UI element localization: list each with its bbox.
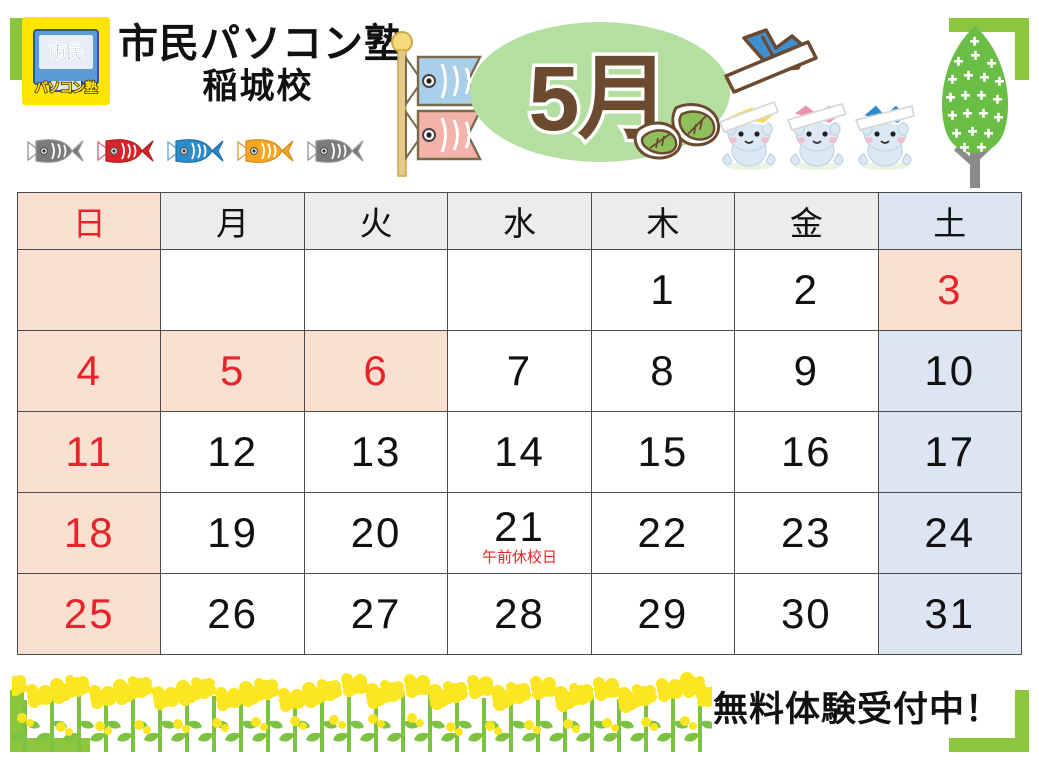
school-logo: 市民 パソコン塾 xyxy=(22,17,110,105)
day-number: 31 xyxy=(879,593,1021,635)
day-number: 7 xyxy=(448,350,590,392)
calendar-day-cell[interactable]: 20 xyxy=(304,493,447,574)
day-number: 27 xyxy=(305,593,447,635)
brand-line-1: 市民パソコン塾 xyxy=(118,22,398,67)
day-number: 21 xyxy=(448,506,590,548)
day-number: 10 xyxy=(879,350,1021,392)
calendar-day-cell[interactable]: 17 xyxy=(878,412,1021,493)
mascot-with-yellow-helmet-icon xyxy=(718,98,780,175)
calendar-day-cell[interactable]: 13 xyxy=(304,412,447,493)
koinobori-icon xyxy=(236,138,294,164)
day-number: 5 xyxy=(161,350,303,392)
calendar-day-cell[interactable]: 8 xyxy=(591,331,734,412)
day-number: 17 xyxy=(879,431,1021,473)
calendar-poster: 市民 パソコン塾 市民パソコン塾 稲城校 xyxy=(0,0,1039,770)
calendar-table-wrapper: 日月火水木金土 12345678910111213141516171819202… xyxy=(17,192,1022,655)
day-number: 1 xyxy=(592,269,734,311)
calendar-day-cell[interactable]: 22 xyxy=(591,493,734,574)
calendar-day-cell[interactable]: 1 xyxy=(591,250,734,331)
day-number: 2 xyxy=(735,269,877,311)
day-number: 13 xyxy=(305,431,447,473)
day-number: 30 xyxy=(735,593,877,635)
calendar-week-row: 11121314151617 xyxy=(18,412,1022,493)
calendar-day-cell[interactable]: 14 xyxy=(448,412,591,493)
weekday-header-火: 火 xyxy=(304,193,447,250)
day-number: 16 xyxy=(735,431,877,473)
koinobori-row xyxy=(26,138,364,164)
calendar-day-cell[interactable]: 30 xyxy=(735,574,878,655)
kashiwamochi-icon xyxy=(630,96,726,167)
day-number: 4 xyxy=(18,350,160,392)
calendar-day-cell[interactable]: 3 xyxy=(878,250,1021,331)
day-number: 23 xyxy=(735,512,877,554)
calendar-empty-cell xyxy=(304,250,447,331)
weekday-header-土: 土 xyxy=(878,193,1021,250)
day-number: 22 xyxy=(592,512,734,554)
day-number: 29 xyxy=(592,593,734,635)
brand-line-2: 稲城校 xyxy=(118,67,398,107)
calendar-day-cell[interactable]: 28 xyxy=(448,574,591,655)
calendar-day-cell[interactable]: 10 xyxy=(878,331,1021,412)
calendar-table: 日月火水木金土 12345678910111213141516171819202… xyxy=(17,192,1022,655)
calendar-day-cell[interactable]: 11 xyxy=(18,412,161,493)
calendar-day-cell[interactable]: 24 xyxy=(878,493,1021,574)
day-number: 19 xyxy=(161,512,303,554)
calendar-day-cell[interactable]: 6 xyxy=(304,331,447,412)
day-number: 8 xyxy=(592,350,734,392)
koinobori-icon xyxy=(96,138,154,164)
mascot-with-blue-helmet-icon xyxy=(854,98,916,175)
weekday-header-木: 木 xyxy=(591,193,734,250)
weekday-header-月: 月 xyxy=(161,193,304,250)
koinobori-icon xyxy=(306,138,364,164)
day-number: 25 xyxy=(18,593,160,635)
calendar-day-cell[interactable]: 19 xyxy=(161,493,304,574)
koinobori-icon xyxy=(26,138,84,164)
nanohana-flower-band xyxy=(12,660,712,752)
calendar-day-cell[interactable]: 15 xyxy=(591,412,734,493)
day-number: 6 xyxy=(305,350,447,392)
calendar-week-row: 25262728293031 xyxy=(18,574,1022,655)
mascot-group xyxy=(718,98,916,175)
calendar-empty-cell xyxy=(18,250,161,331)
day-number: 15 xyxy=(592,431,734,473)
calendar-day-cell[interactable]: 7 xyxy=(448,331,591,412)
calendar-week-row: 18192021午前休校日222324 xyxy=(18,493,1022,574)
logo-monitor-label: 市民 xyxy=(48,43,84,62)
koinobori-icon xyxy=(166,138,224,164)
calendar-day-cell[interactable]: 23 xyxy=(735,493,878,574)
calendar-day-cell[interactable]: 4 xyxy=(18,331,161,412)
day-number: 18 xyxy=(18,512,160,554)
calendar-day-cell[interactable]: 29 xyxy=(591,574,734,655)
day-number: 20 xyxy=(305,512,447,554)
calendar-week-row: 123 xyxy=(18,250,1022,331)
day-number: 11 xyxy=(18,431,160,473)
calendar-week-row: 45678910 xyxy=(18,331,1022,412)
calendar-empty-cell xyxy=(448,250,591,331)
calendar-day-cell[interactable]: 2 xyxy=(735,250,878,331)
calendar-day-cell[interactable]: 12 xyxy=(161,412,304,493)
weekday-header-水: 水 xyxy=(448,193,591,250)
day-number: 12 xyxy=(161,431,303,473)
calendar-day-cell[interactable]: 18 xyxy=(18,493,161,574)
calendar-day-cell[interactable]: 16 xyxy=(735,412,878,493)
day-number: 28 xyxy=(448,593,590,635)
day-number: 24 xyxy=(879,512,1021,554)
tree-icon xyxy=(930,20,1020,195)
logo-sub-label: パソコン塾 xyxy=(35,77,98,96)
day-note: 午前休校日 xyxy=(448,550,590,565)
day-number: 14 xyxy=(448,431,590,473)
calendar-day-cell[interactable]: 26 xyxy=(161,574,304,655)
mascot-with-pink-helmet-icon xyxy=(786,98,848,175)
day-number: 26 xyxy=(161,593,303,635)
calendar-day-cell[interactable]: 21午前休校日 xyxy=(448,493,591,574)
calendar-header-row: 日月火水木金土 xyxy=(18,193,1022,250)
weekday-header-金: 金 xyxy=(735,193,878,250)
poster-header: 市民 パソコン塾 市民パソコン塾 稲城校 xyxy=(0,0,1039,190)
day-number: 9 xyxy=(735,350,877,392)
brand-name: 市民パソコン塾 稲城校 xyxy=(118,22,398,107)
calendar-day-cell[interactable]: 25 xyxy=(18,574,161,655)
calendar-day-cell[interactable]: 27 xyxy=(304,574,447,655)
promo-text: 無料体験受付中！ xyxy=(713,681,1001,732)
calendar-day-cell[interactable]: 5 xyxy=(161,331,304,412)
calendar-day-cell[interactable]: 9 xyxy=(735,331,878,412)
weekday-header-日: 日 xyxy=(18,193,161,250)
calendar-day-cell[interactable]: 31 xyxy=(878,574,1021,655)
day-number: 3 xyxy=(879,269,1021,311)
calendar-empty-cell xyxy=(161,250,304,331)
